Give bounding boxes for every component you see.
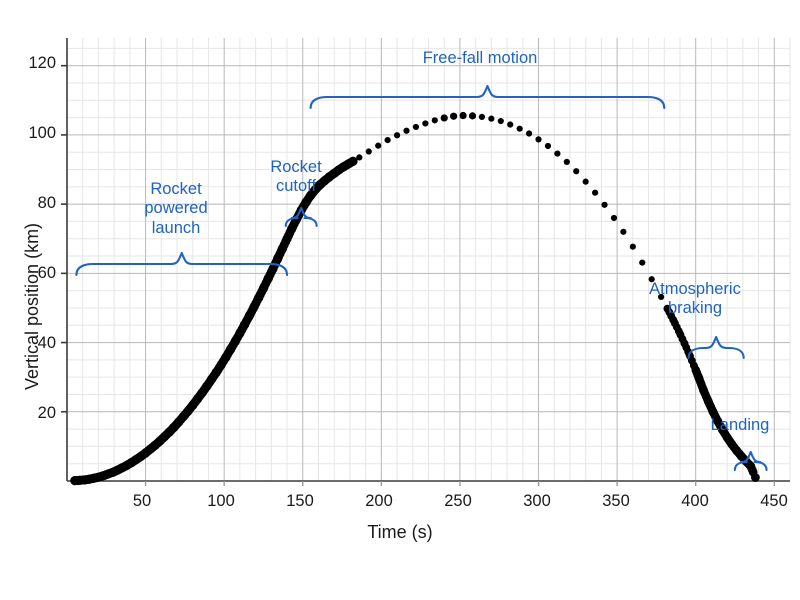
x-tick-label-400: 400 xyxy=(670,492,720,511)
annotation-atmospheric-braking: Atmospheric braking xyxy=(633,280,757,319)
brace-free-fall-motion xyxy=(311,86,665,108)
x-tick-label-300: 300 xyxy=(512,492,562,511)
x-axis-title: Time (s) xyxy=(0,522,800,543)
x-tick-label-250: 250 xyxy=(433,492,483,511)
chart-figure: 120 100 80 60 40 20 50 100 150 200 250 3… xyxy=(0,0,800,600)
minor-gridlines xyxy=(67,38,790,481)
x-tick-label-200: 200 xyxy=(354,492,404,511)
y-tick-label-100: 100 xyxy=(8,124,56,143)
annotation-rocket-powered-launch: Rocket powered launch xyxy=(120,180,232,238)
y-axis-title: Vertical position (km) xyxy=(22,223,43,390)
y-tick-label-80: 80 xyxy=(8,194,56,213)
x-tick-label-350: 350 xyxy=(591,492,641,511)
brace-atmospheric-braking xyxy=(689,337,744,358)
y-tick-label-20: 20 xyxy=(8,404,56,423)
x-tick-label-50: 50 xyxy=(117,492,167,511)
annotation-free-fall-motion: Free-fall motion xyxy=(370,49,590,68)
x-tick-label-100: 100 xyxy=(196,492,246,511)
annotation-rocket-cutoff: Rocket cutoff xyxy=(250,158,342,197)
y-tick-label-120: 120 xyxy=(8,54,56,73)
x-tick-label-150: 150 xyxy=(275,492,325,511)
annotation-braces xyxy=(76,86,766,470)
x-tick-label-450: 450 xyxy=(749,492,799,511)
annotation-landing: Landing xyxy=(695,416,785,435)
